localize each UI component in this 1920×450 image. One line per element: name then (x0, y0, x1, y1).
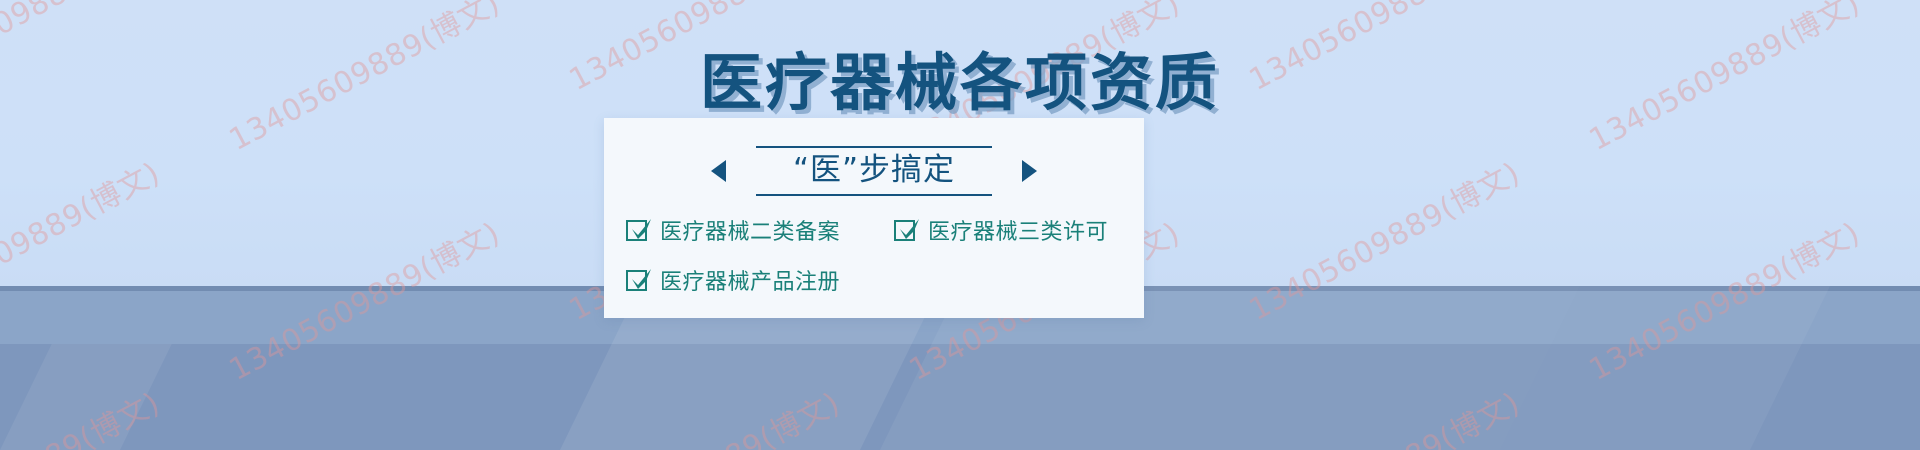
headline-row: “医”步搞定 (604, 140, 1144, 202)
checklist-item-label: 医疗器械二类备案 (660, 214, 840, 246)
checklist-item[interactable]: 医疗器械三类许可 (894, 214, 1126, 246)
checkbox-checked-icon[interactable] (894, 220, 915, 241)
triangle-right-icon[interactable] (1022, 160, 1037, 182)
checklist-item-label: 医疗器械产品注册 (660, 264, 840, 296)
checklist-item-label: 医疗器械三类许可 (928, 214, 1108, 246)
headline-block: “医”步搞定 (752, 140, 996, 202)
checklist-item[interactable]: 医疗器械二类备案 (626, 214, 894, 246)
checklist-item[interactable]: 医疗器械产品注册 (626, 264, 1126, 296)
checklist: 医疗器械二类备案医疗器械三类许可医疗器械产品注册 (626, 214, 1126, 296)
headline-text: “医”步搞定 (756, 148, 992, 194)
triangle-left-icon[interactable] (711, 160, 726, 182)
headline-rule-bottom (756, 194, 992, 196)
checkbox-checked-icon[interactable] (626, 220, 647, 241)
page-title: 医疗器械各项资质 (0, 32, 1920, 122)
banner-root: 13405609889(博文)13405609889(博文)1340560988… (0, 0, 1920, 450)
qualification-card: “医”步搞定 医疗器械二类备案医疗器械三类许可医疗器械产品注册 (604, 118, 1144, 318)
checkbox-checked-icon[interactable] (626, 270, 647, 291)
